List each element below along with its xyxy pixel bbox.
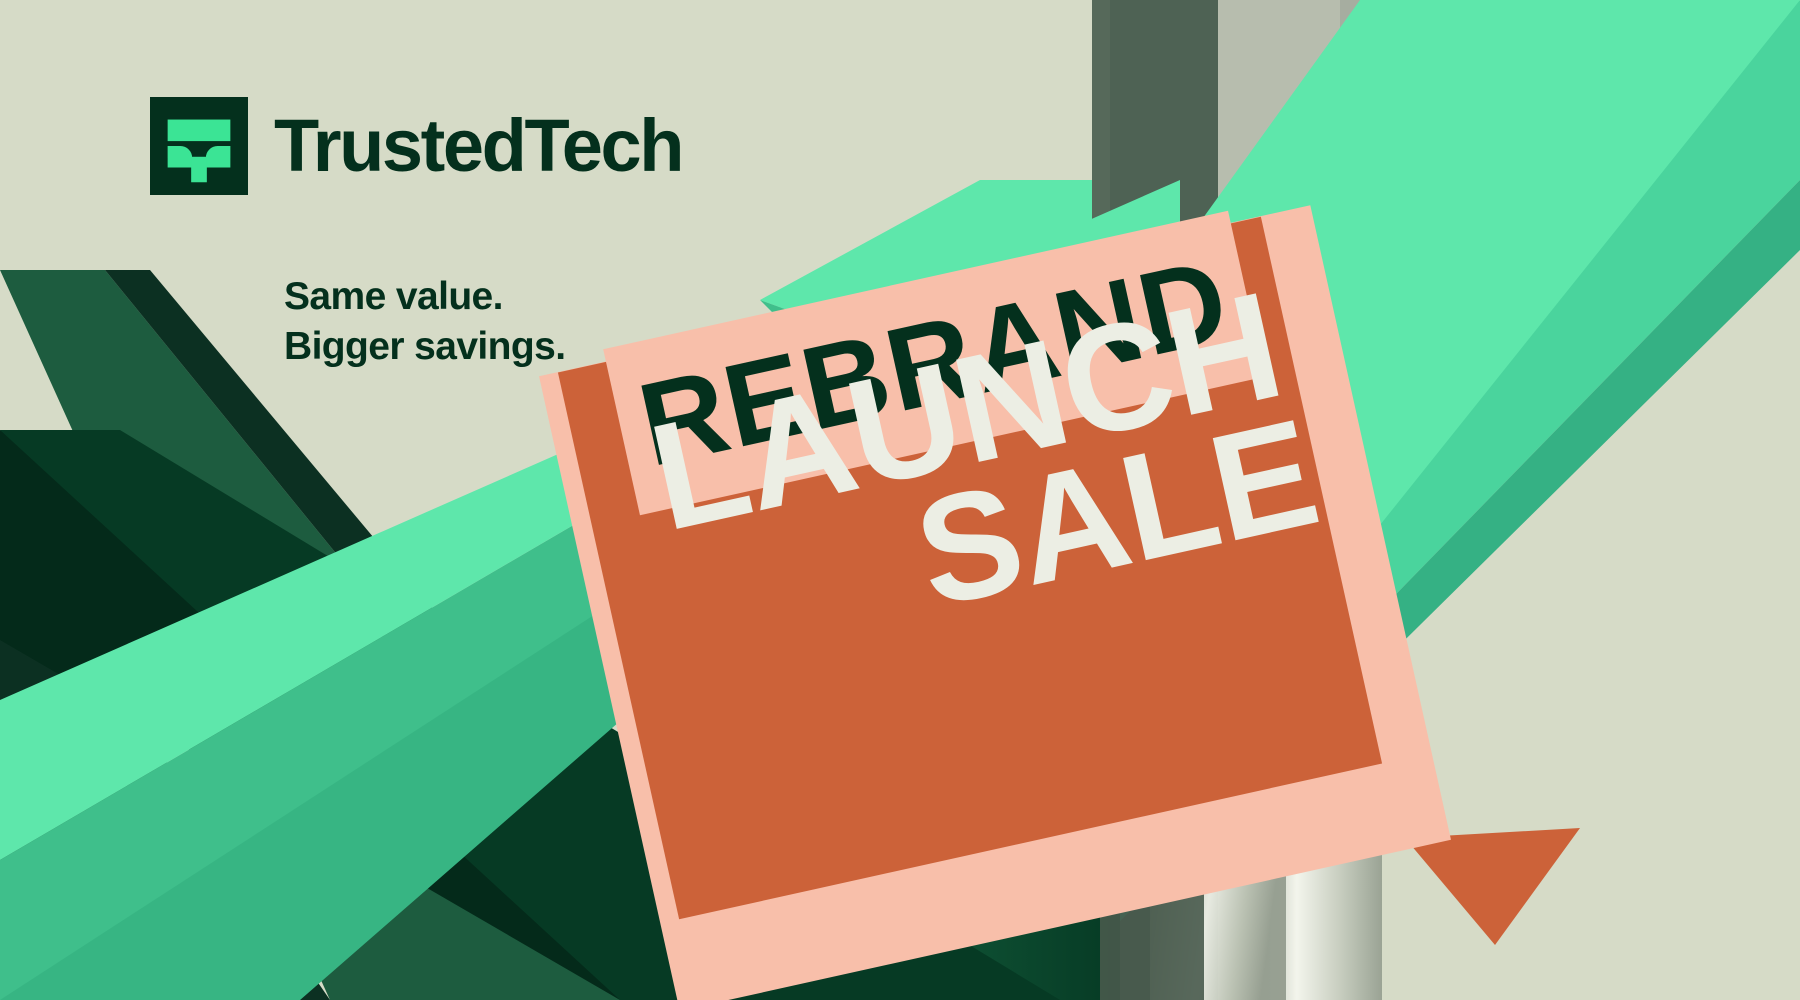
brand-wordmark: TrustedTech	[274, 109, 682, 183]
tagline-line-2: Bigger savings.	[284, 322, 565, 372]
tagline-line-1: Same value.	[284, 272, 565, 322]
brand-lockup: TrustedTech	[150, 97, 682, 195]
trustedtech-t-mark-icon	[150, 97, 248, 195]
rebrand-launch-sale-banner: TrustedTech Same value. Bigger savings. …	[0, 0, 1800, 1000]
tagline: Same value. Bigger savings.	[284, 272, 565, 372]
